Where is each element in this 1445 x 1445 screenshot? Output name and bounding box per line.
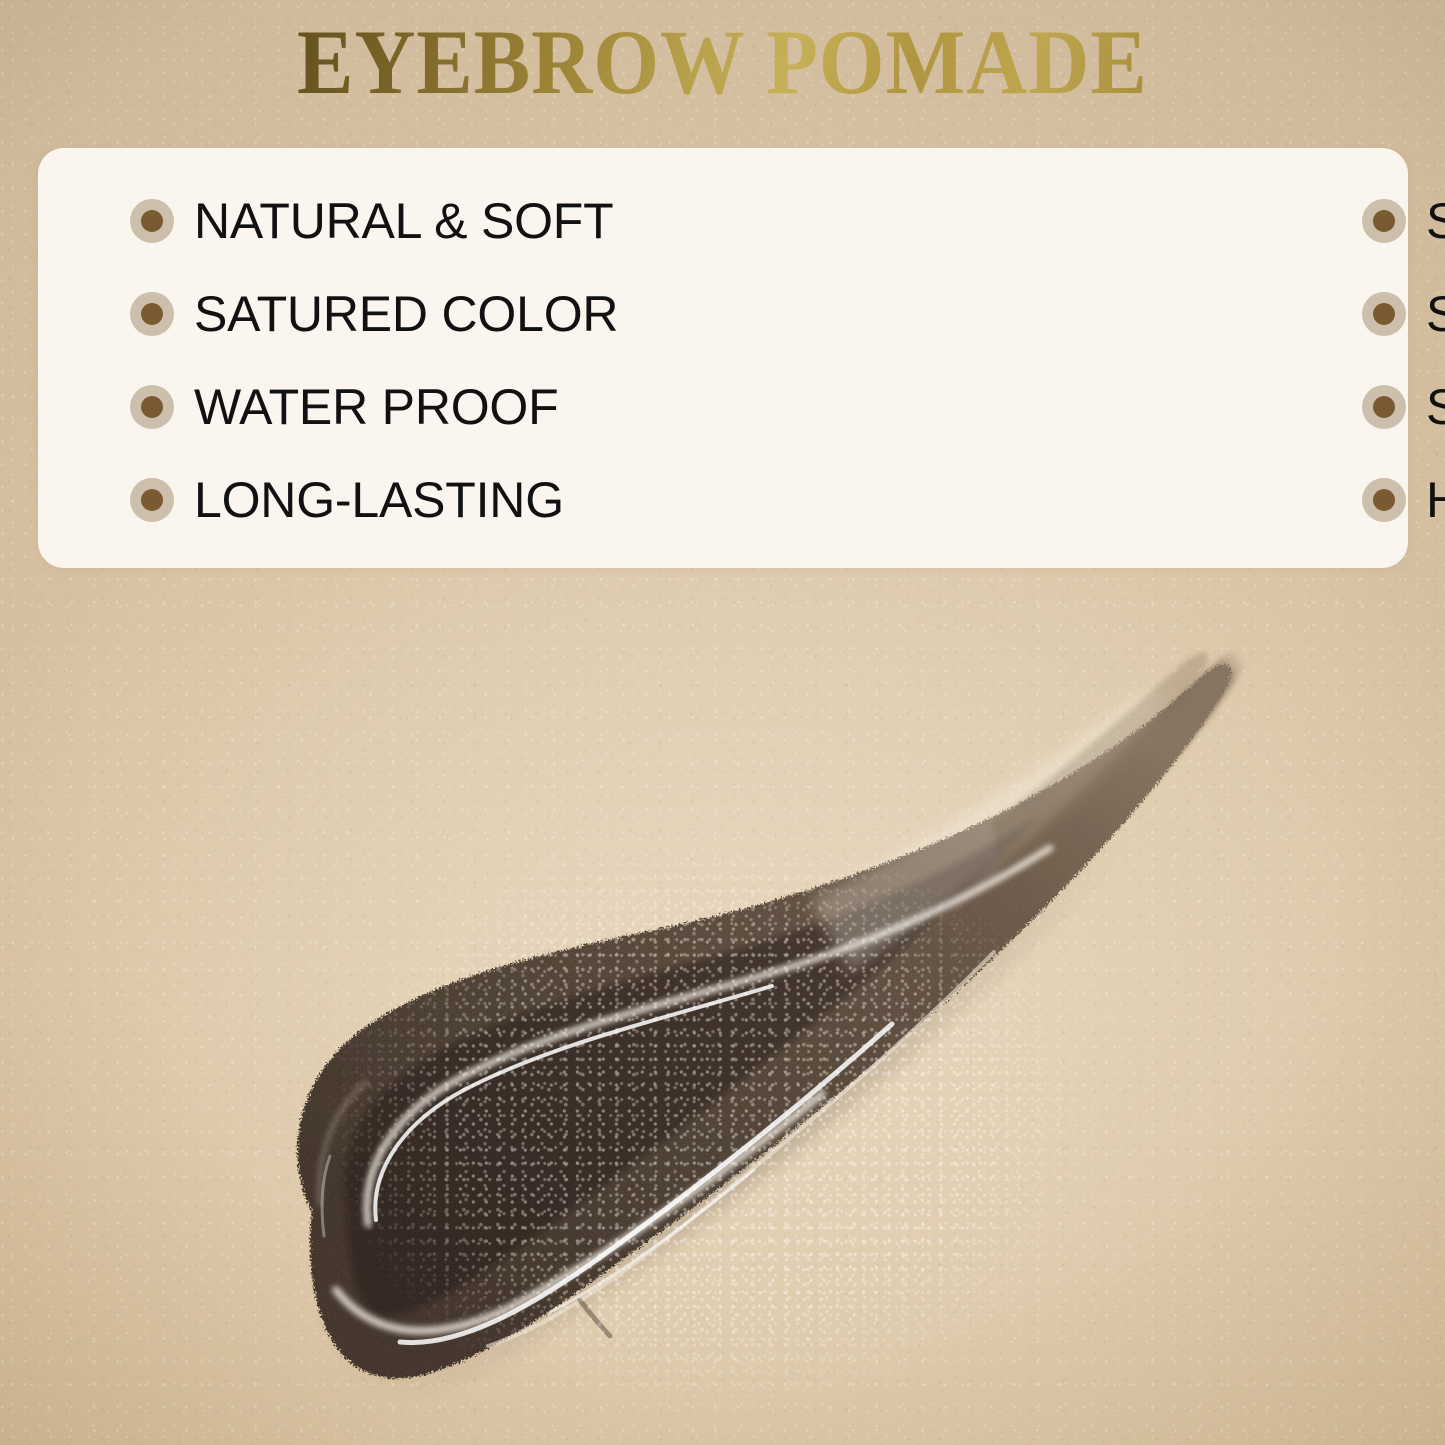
feature-item-water-proof: WATER PROOF (38, 360, 700, 453)
feature-label: SMUDGE PROOF (1426, 382, 1445, 432)
bullet-dot-icon (130, 478, 174, 522)
feature-label: WATER PROOF (194, 382, 558, 432)
feature-grid: NATURAL & SOFT STAY ALL DAY SATURED COLO… (38, 148, 1408, 568)
feature-item-stay-all-day: STAY ALL DAY (700, 174, 1408, 267)
bullet-dot-icon (130, 385, 174, 429)
feature-item-satured-color: SATURED COLOR (38, 267, 700, 360)
feature-item-slide-smoothly: SLIDE SMOOTHLY (700, 267, 1408, 360)
title-area: EYEBROW POMADE (0, 16, 1445, 108)
feature-label: NATURAL & SOFT (194, 196, 613, 246)
bullet-dot-icon (130, 292, 174, 336)
bullet-dot-icon (1362, 292, 1406, 336)
bullet-dot-icon (1362, 478, 1406, 522)
feature-item-high-pigment-formula: HIGH-PIGMENT FORMULA (700, 453, 1408, 546)
feature-label: LONG-LASTING (194, 475, 564, 525)
page-title: EYEBROW POMADE (297, 16, 1148, 108)
bullet-dot-icon (1362, 385, 1406, 429)
feature-item-natural-soft: NATURAL & SOFT (38, 174, 700, 267)
feature-label: STAY ALL DAY (1426, 196, 1445, 246)
feature-item-long-lasting: LONG-LASTING (38, 453, 700, 546)
product-marketing-image: EYEBROW POMADE NATURAL & SOFT STAY ALL D… (0, 0, 1445, 1445)
feature-label: HIGH-PIGMENT FORMULA (1426, 475, 1445, 525)
feature-label: SLIDE SMOOTHLY (1426, 289, 1445, 339)
feature-label: SATURED COLOR (194, 289, 618, 339)
bullet-dot-icon (1362, 199, 1406, 243)
pomade-swatch-image (250, 600, 1260, 1445)
product-swatch-area (250, 600, 1260, 1445)
feature-card: NATURAL & SOFT STAY ALL DAY SATURED COLO… (38, 148, 1408, 568)
bullet-dot-icon (130, 199, 174, 243)
feature-item-smudge-proof: SMUDGE PROOF (700, 360, 1408, 453)
